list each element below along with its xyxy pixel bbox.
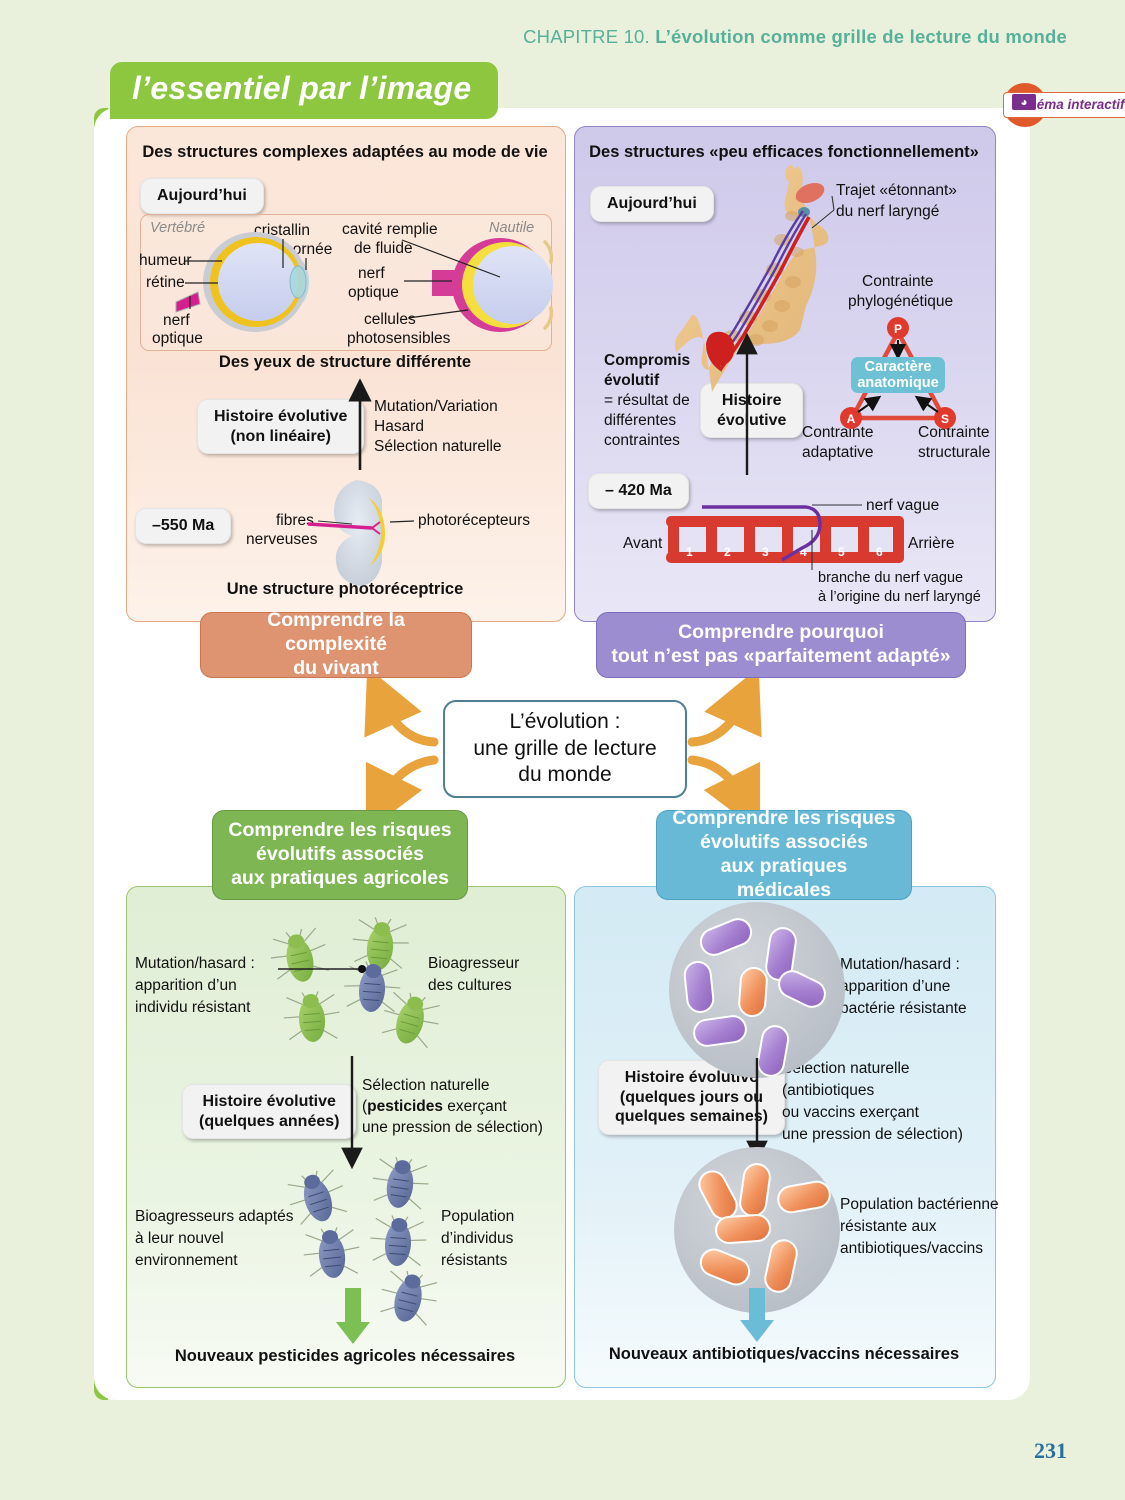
cbox-complex-l1: Comprendre la complexité <box>267 609 405 655</box>
cbox-agricultural-risks[interactable]: Comprendre les risquesévolutifs associés… <box>212 810 468 900</box>
label-compromis-2: évolutif <box>604 372 659 391</box>
label-med-mutation-2: apparition d’une <box>840 978 950 997</box>
pill-history-nonlinear: Histoire évolutive (non linéaire) <box>197 399 364 454</box>
center-line-1: L’évolution : <box>510 710 621 733</box>
conclusion-med: Nouveaux antibiotiques/vaccins nécessair… <box>574 1345 994 1364</box>
cbox-agri-l3: aux pratiques agricoles <box>231 867 449 889</box>
cbox-agri-l2: évolutifs associés <box>256 843 424 865</box>
agri-sel-post: exerçant <box>443 1098 507 1115</box>
conclusion-agri: Nouveaux pesticides agricoles nécessaire… <box>126 1347 564 1366</box>
label-population-med-3: antibiotiques/vaccins <box>840 1240 983 1259</box>
caractere-l1: Caractère <box>865 359 932 375</box>
pill-history-nonlinear-l1: Histoire évolutive <box>214 408 347 425</box>
pill-today-eye: Aujourd’hui <box>140 178 264 214</box>
pill-history-med: Histoire évolutive (quelques jours ou qu… <box>598 1060 785 1135</box>
label-population-agri-2: d’individus <box>441 1230 513 1249</box>
label-contrainte-phylo-2: phylogénétique <box>848 293 953 312</box>
label-compromis-3: = résultat de <box>604 392 690 411</box>
label-adapted-1: Bioagresseurs adaptés <box>135 1208 294 1227</box>
cbox-med-l3: aux pratiques médicales <box>721 855 848 901</box>
cbox-medical-risks[interactable]: Comprendre les risquesévolutifs associés… <box>656 810 912 900</box>
label-nerf-optique-right-2: optique <box>348 284 399 303</box>
pill-history-giraffe-l2: évolutive <box>717 412 786 429</box>
label-agri-selection-2: (pesticides exerçant <box>362 1098 507 1117</box>
label-nerf-optique-left-1: nerf <box>163 312 190 331</box>
label-nerf-optique-right-1: nerf <box>358 265 385 284</box>
cbox-adapt-l1: Comprendre pourquoi <box>678 621 884 643</box>
pill-history-nonlinear-l2: (non linéaire) <box>230 428 330 445</box>
label-med-mutation-3: bactérie résistante <box>840 1000 967 1019</box>
label-contrainte-struct-1: Contrainte <box>918 424 990 443</box>
label-cornee: cornée <box>285 241 332 260</box>
label-med-selection-2: (antibiotiques <box>782 1082 874 1101</box>
label-adapted-3: environnement <box>135 1252 238 1271</box>
center-line-2: une grille de lecture <box>473 737 656 760</box>
label-branche-2: à l’origine du nerf laryngé <box>818 589 981 606</box>
label-cristallin: cristallin <box>254 222 310 241</box>
pill-history-giraffe: Histoire évolutive <box>700 383 803 438</box>
label-population-med-2: résistante aux <box>840 1218 937 1237</box>
label-fibres-1: fibres <box>276 512 314 531</box>
caption-different-eyes: Des yeux de structure différente <box>126 353 564 372</box>
cbox-agri-l1: Comprendre les risques <box>228 819 451 841</box>
label-agri-selection-3: une pression de sélection) <box>362 1119 543 1138</box>
label-nerf-vague: nerf vague <box>866 497 939 516</box>
label-nautilus: Nautile <box>489 220 534 237</box>
cbox-understand-complexity[interactable]: Comprendre la complexitédu vivant <box>200 612 472 678</box>
pill-history-agri: Histoire évolutive (quelques années) <box>182 1084 356 1139</box>
label-compromis-5: contraintes <box>604 432 680 451</box>
label-med-selection-4: une pression de sélection) <box>782 1126 963 1145</box>
pill-history-giraffe-l1: Histoire <box>722 392 782 409</box>
label-nerf-optique-left-2: optique <box>152 330 203 349</box>
cbox-med-l1: Comprendre les risques <box>672 807 895 829</box>
label-cavite-1: cavité remplie <box>342 221 438 240</box>
label-contrainte-adapt-1: Contrainte <box>802 424 874 443</box>
pill-history-med-l3: quelques semaines) <box>615 1108 768 1125</box>
cbox-understand-imperfection[interactable]: Comprendre pourquoitout n’est pas «parfa… <box>596 612 966 678</box>
label-med-selection-1: Sélection naturelle <box>782 1060 910 1079</box>
label-arriere: Arrière <box>908 535 955 554</box>
pill-420ma: – 420 Ma <box>588 473 689 509</box>
box-caractere-anatomique: Caractère anatomique <box>851 357 945 393</box>
label-vertebrate: Vertébré <box>150 220 205 237</box>
label-bioagresseur-1: Bioagresseur <box>428 955 519 974</box>
label-med-selection-3: ou vaccins exerçant <box>782 1104 919 1123</box>
label-agri-selection-1: Sélection naturelle <box>362 1077 490 1096</box>
label-agri-mutation-2: apparition d’un <box>135 977 237 996</box>
pill-history-med-l1: Histoire évolutive <box>625 1069 758 1086</box>
label-population-agri-1: Population <box>441 1208 514 1227</box>
panel-eye-title: Des structures complexes adaptées au mod… <box>126 143 564 162</box>
label-humeur: humeur <box>139 252 192 271</box>
cbox-complex-l2: du vivant <box>293 657 379 679</box>
chapter-number: CHAPITRE 10. <box>523 26 650 47</box>
label-photorecepteurs: photorécepteurs <box>418 512 530 531</box>
caption-photoreceptor-structure: Une structure photoréceptrice <box>126 580 564 599</box>
note-selection-naturelle: Sélection naturelle <box>374 438 502 457</box>
label-compromis-4: différentes <box>604 412 676 431</box>
label-cellules-1: cellules <box>364 311 416 330</box>
section-banner: l’essentiel par l’image <box>110 62 498 119</box>
cbox-adapt-l2: tout n’est pas «parfaitement adapté» <box>611 645 950 667</box>
center-line-3: du monde <box>518 763 611 786</box>
note-hasard: Hasard <box>374 418 424 437</box>
label-contrainte-adapt-2: adaptative <box>802 444 874 463</box>
pill-today-giraffe: Aujourd’hui <box>590 186 714 222</box>
label-contrainte-phylo-1: Contrainte <box>862 273 934 292</box>
caractere-l2: anatomique <box>857 375 938 391</box>
label-cellules-2: photosensibles <box>347 330 450 349</box>
label-agri-mutation-3: individu résistant <box>135 999 250 1018</box>
page-number: 231 <box>1034 1438 1067 1464</box>
note-mutation-variation: Mutation/Variation <box>374 398 498 417</box>
label-cavite-2: de fluide <box>354 240 413 259</box>
pill-history-med-l2: (quelques jours ou <box>620 1089 763 1106</box>
label-adapted-2: à leur nouvel <box>135 1230 224 1249</box>
label-trajet-1: Trajet «étonnant» <box>836 182 957 201</box>
center-concept-box: L’évolution : une grille de lecture du m… <box>443 700 687 798</box>
label-med-mutation-1: Mutation/hasard : <box>840 956 960 975</box>
pill-history-agri-l1: Histoire évolutive <box>203 1093 336 1110</box>
chapter-heading: CHAPITRE 10. L’évolution comme grille de… <box>523 26 1067 48</box>
pill-550ma: –550 Ma <box>135 508 231 544</box>
label-branche-1: branche du nerf vague <box>818 570 963 587</box>
label-trajet-2: du nerf laryngé <box>836 203 939 222</box>
label-avant: Avant <box>623 535 662 554</box>
page-root: CHAPITRE 10. L’évolution comme grille de… <box>0 0 1125 1500</box>
label-bioagresseur-2: des cultures <box>428 977 512 996</box>
label-fibres-2: nerveuses <box>246 531 318 550</box>
pill-history-agri-l2: (quelques années) <box>199 1113 339 1130</box>
chapter-title: L’évolution comme grille de lecture du m… <box>655 26 1067 47</box>
label-compromis-1: Compromis <box>604 352 690 371</box>
panel-giraffe-title: Des structures «peu efficaces fonctionne… <box>574 143 994 162</box>
agri-sel-bold: pesticides <box>367 1098 443 1115</box>
cbox-med-l2: évolutifs associés <box>700 831 868 853</box>
label-agri-mutation-1: Mutation/hasard : <box>135 955 255 974</box>
interactive-schema-badge[interactable]: Schéma interactif ◕ <box>1003 83 1047 127</box>
label-retine: rétine <box>146 274 185 293</box>
label-population-agri-3: résistants <box>441 1252 507 1271</box>
label-contrainte-struct-2: structurale <box>918 444 990 463</box>
label-population-med-1: Population bactérienne <box>840 1196 999 1215</box>
